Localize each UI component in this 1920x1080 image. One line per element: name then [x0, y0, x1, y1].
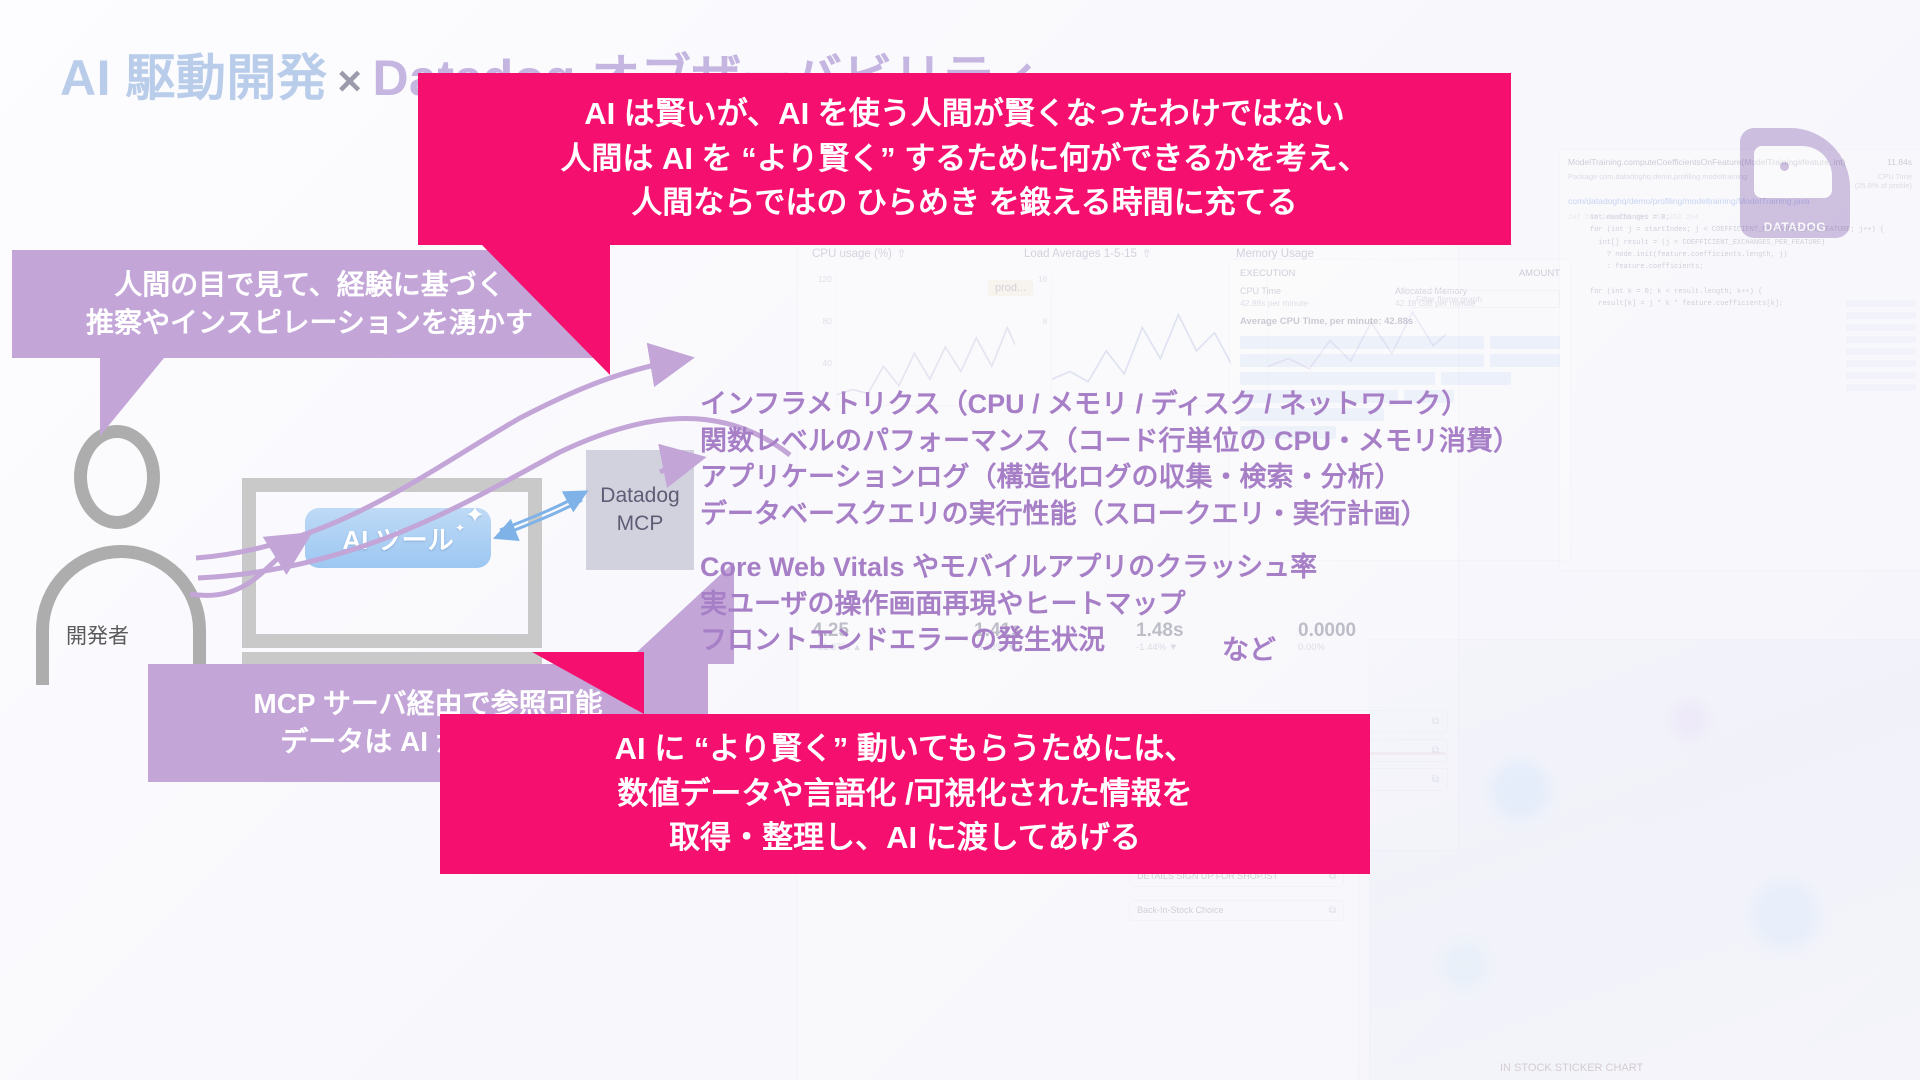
amount-label: AMOUNT: [1519, 268, 1560, 286]
code-meta: Package com.datadoghq.demo.profiling.mod…: [1568, 172, 1747, 181]
title-separator: ×: [327, 57, 372, 104]
col-cpu: CPU usage (%): [812, 248, 892, 260]
observability-group-frontend: Core Web Vitals やモバイルアプリのクラッシュ率 実ユーザの操作画…: [700, 549, 1520, 659]
highlight-tail: [482, 245, 610, 375]
flame-row: [1240, 354, 1560, 367]
developer-label: 開発者: [66, 620, 129, 650]
callout-tail: [100, 358, 164, 436]
cpu-time-val: 42.88s per minute: [1240, 298, 1308, 308]
callout-line: 人間の目で見て、経験に基づく: [114, 266, 505, 304]
background-screenshot-rum: IN STOCK STICKER CHART: [1370, 640, 1920, 1080]
code-meta-right: CPU Time(25.8% of profile): [1855, 172, 1912, 190]
highlight-line: 数値データや言語化 /可視化された情報を: [617, 772, 1192, 817]
highlight-line: AI は賢いが、AI を使う人間が賢くなったわけではない: [584, 92, 1345, 137]
callout-line: 推察やインスピレーションを湧かす: [86, 304, 533, 342]
apm-column-headers: CPU usage (%)⇮ Load Averages 1-5-15⇮ Mem…: [812, 247, 1448, 260]
title-prefix: AI 駆動開発: [60, 50, 327, 106]
col-memory: Memory Usage: [1236, 248, 1314, 260]
ai-tool-label: AI ツール: [342, 520, 453, 557]
prod-pill: prod...: [988, 280, 1033, 296]
rum-footer: IN STOCK STICKER CHART: [1500, 1062, 1643, 1074]
highlight-line: AI に “より賢く” 動いてもらうためには、: [615, 727, 1196, 772]
flame-row: [1240, 372, 1560, 385]
profiler-head: EXECUTION AMOUNT: [1240, 268, 1560, 286]
list-item: 関数レベルのパフォーマンス（コード行単位の CPU・メモリ消費）: [700, 423, 1520, 460]
profiler-title: Average CPU Time, per minute: 42.88s: [1240, 316, 1413, 327]
list-item: インフラメトリクス（CPU / メモリ / ディスク / ネットワーク）: [700, 386, 1520, 423]
highlight-line: 取得・整理し、AI に渡してあげる: [669, 816, 1141, 861]
flame-filter-input[interactable]: Filter flame graph: [1410, 290, 1560, 308]
highlight-line: 人間ならではの ひらめき を鍛える時間に充てる: [631, 181, 1297, 226]
datadog-logo: DATADOG: [1740, 128, 1850, 238]
observability-etc-label: など: [1222, 628, 1276, 667]
code-side-stripes: [1846, 300, 1916, 396]
cpu-time-col: CPU Time: [1240, 286, 1281, 296]
export-icon: ⇮: [897, 247, 906, 260]
ai-tool-box[interactable]: AI ツール ✦ ✦: [305, 508, 491, 568]
observability-list: インフラメトリクス（CPU / メモリ / ディスク / ネットワーク） 関数レ…: [700, 386, 1520, 659]
copy-icon[interactable]: ⧉: [1329, 905, 1336, 916]
execution-label: EXECUTION: [1240, 268, 1295, 286]
list-item: 実ユーザの操作画面再現やヒートマップ: [700, 586, 1520, 623]
list-item: フロントエンドエラーの発生状況: [700, 622, 1520, 659]
list-item: Back-In-Stock Choice⧉: [1129, 900, 1344, 921]
highlight-feed-ai: AI に “より賢く” 動いてもらうためには、 数値データや言語化 /可視化され…: [440, 714, 1370, 874]
export-icon: ⇮: [1142, 247, 1151, 260]
flame-row: [1240, 336, 1560, 349]
highlight-ai-smart: AI は賢いが、AI を使う人間が賢くなったわけではない 人間は AI を “よ…: [418, 73, 1511, 245]
mcp-label-line2: MCP: [617, 511, 664, 537]
sparkle-icon: ✦: [465, 504, 485, 528]
highlight-tail: [532, 652, 644, 714]
sparkle-small-icon: ✦: [455, 522, 465, 534]
highlight-line: 人間は AI を “より賢く” するために何ができるかを考え、: [560, 137, 1368, 182]
datadog-logo-text: DATADOG: [1740, 220, 1850, 234]
datadog-mcp-box[interactable]: Datadog MCP: [586, 450, 694, 570]
list-item: Core Web Vitals やモバイルアプリのクラッシュ率: [700, 549, 1520, 586]
list-item: アプリケーションログ（構造化ログの収集・検索・分析）: [700, 459, 1520, 496]
list-item: データベースクエリの実行性能（スロークエリ・実行計画）: [700, 496, 1520, 533]
observability-group-backend: インフラメトリクス（CPU / メモリ / ディスク / ネットワーク） 関数レ…: [700, 386, 1520, 533]
developer-avatar-icon: [36, 425, 206, 615]
mcp-label-line1: Datadog: [600, 483, 679, 509]
slide-canvas: web-store ♥ rack.request ShoppingCartCon…: [0, 0, 1920, 1080]
col-load: Load Averages 1-5-15: [1024, 248, 1137, 260]
